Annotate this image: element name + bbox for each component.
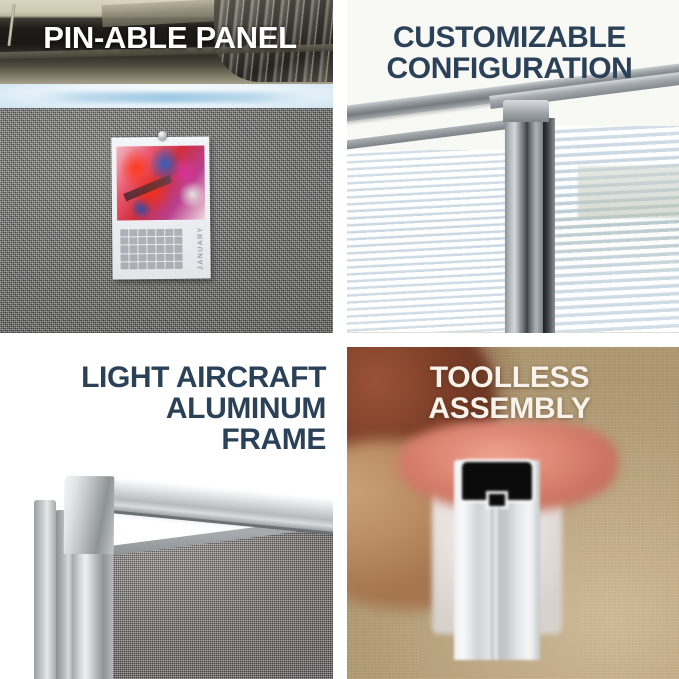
panel-toolless-assembly: TOOLLESS ASSEMBLY xyxy=(340,340,679,679)
vertical-post-rear xyxy=(34,500,56,679)
title-line-3: FRAME xyxy=(8,424,326,455)
extrusion-notch xyxy=(489,494,505,506)
panel-pin-able-panel: JANUARY PIN-ABLE PANEL xyxy=(0,0,340,340)
calendar-artwork xyxy=(116,146,205,221)
title-line-2: ASSEMBLY xyxy=(354,393,665,424)
title-line-1: LIGHT AIRCRAFT xyxy=(8,362,326,393)
panel-title-toolless-assembly: TOOLLESS ASSEMBLY xyxy=(354,362,665,424)
light-strip-glow xyxy=(27,92,313,103)
panel-title-light-aircraft-aluminum-frame: LIGHT AIRCRAFT ALUMINUM FRAME xyxy=(8,362,326,456)
title-line-2: CONFIGURATION xyxy=(354,53,665,84)
calendar-month-label: JANUARY xyxy=(197,227,204,270)
outside-view xyxy=(578,166,679,218)
title-line-1: PIN-ABLE PANEL xyxy=(0,22,340,54)
calendar-grid xyxy=(120,229,182,270)
title-line-1: TOOLLESS xyxy=(354,362,665,393)
corner-post xyxy=(505,110,543,340)
corner-joint xyxy=(64,476,115,554)
title-line-2: ALUMINUM xyxy=(8,393,326,424)
door-jamb xyxy=(543,118,555,340)
horizontal-divider xyxy=(0,333,679,347)
title-line-1: CUSTOMIZABLE xyxy=(354,22,665,53)
push-pin-icon xyxy=(158,131,167,140)
panel-title-customizable-configuration: CUSTOMIZABLE CONFIGURATION xyxy=(354,22,665,84)
panel-customizable-configuration: CUSTOMIZABLE CONFIGURATION xyxy=(340,0,679,340)
corner-post-cap xyxy=(503,100,549,122)
glass-panel-right xyxy=(546,126,679,340)
glass-panel-left xyxy=(340,150,508,340)
feature-collage: JANUARY PIN-ABLE PANEL CUSTOMIZABLE CONF… xyxy=(0,0,679,679)
panel-title-pin-able-panel: PIN-ABLE PANEL xyxy=(0,22,340,54)
pinned-calendar: JANUARY xyxy=(111,136,210,279)
extrusion-rib xyxy=(491,508,501,660)
panel-light-aircraft-aluminum-frame: LIGHT AIRCRAFT ALUMINUM FRAME xyxy=(0,340,340,679)
